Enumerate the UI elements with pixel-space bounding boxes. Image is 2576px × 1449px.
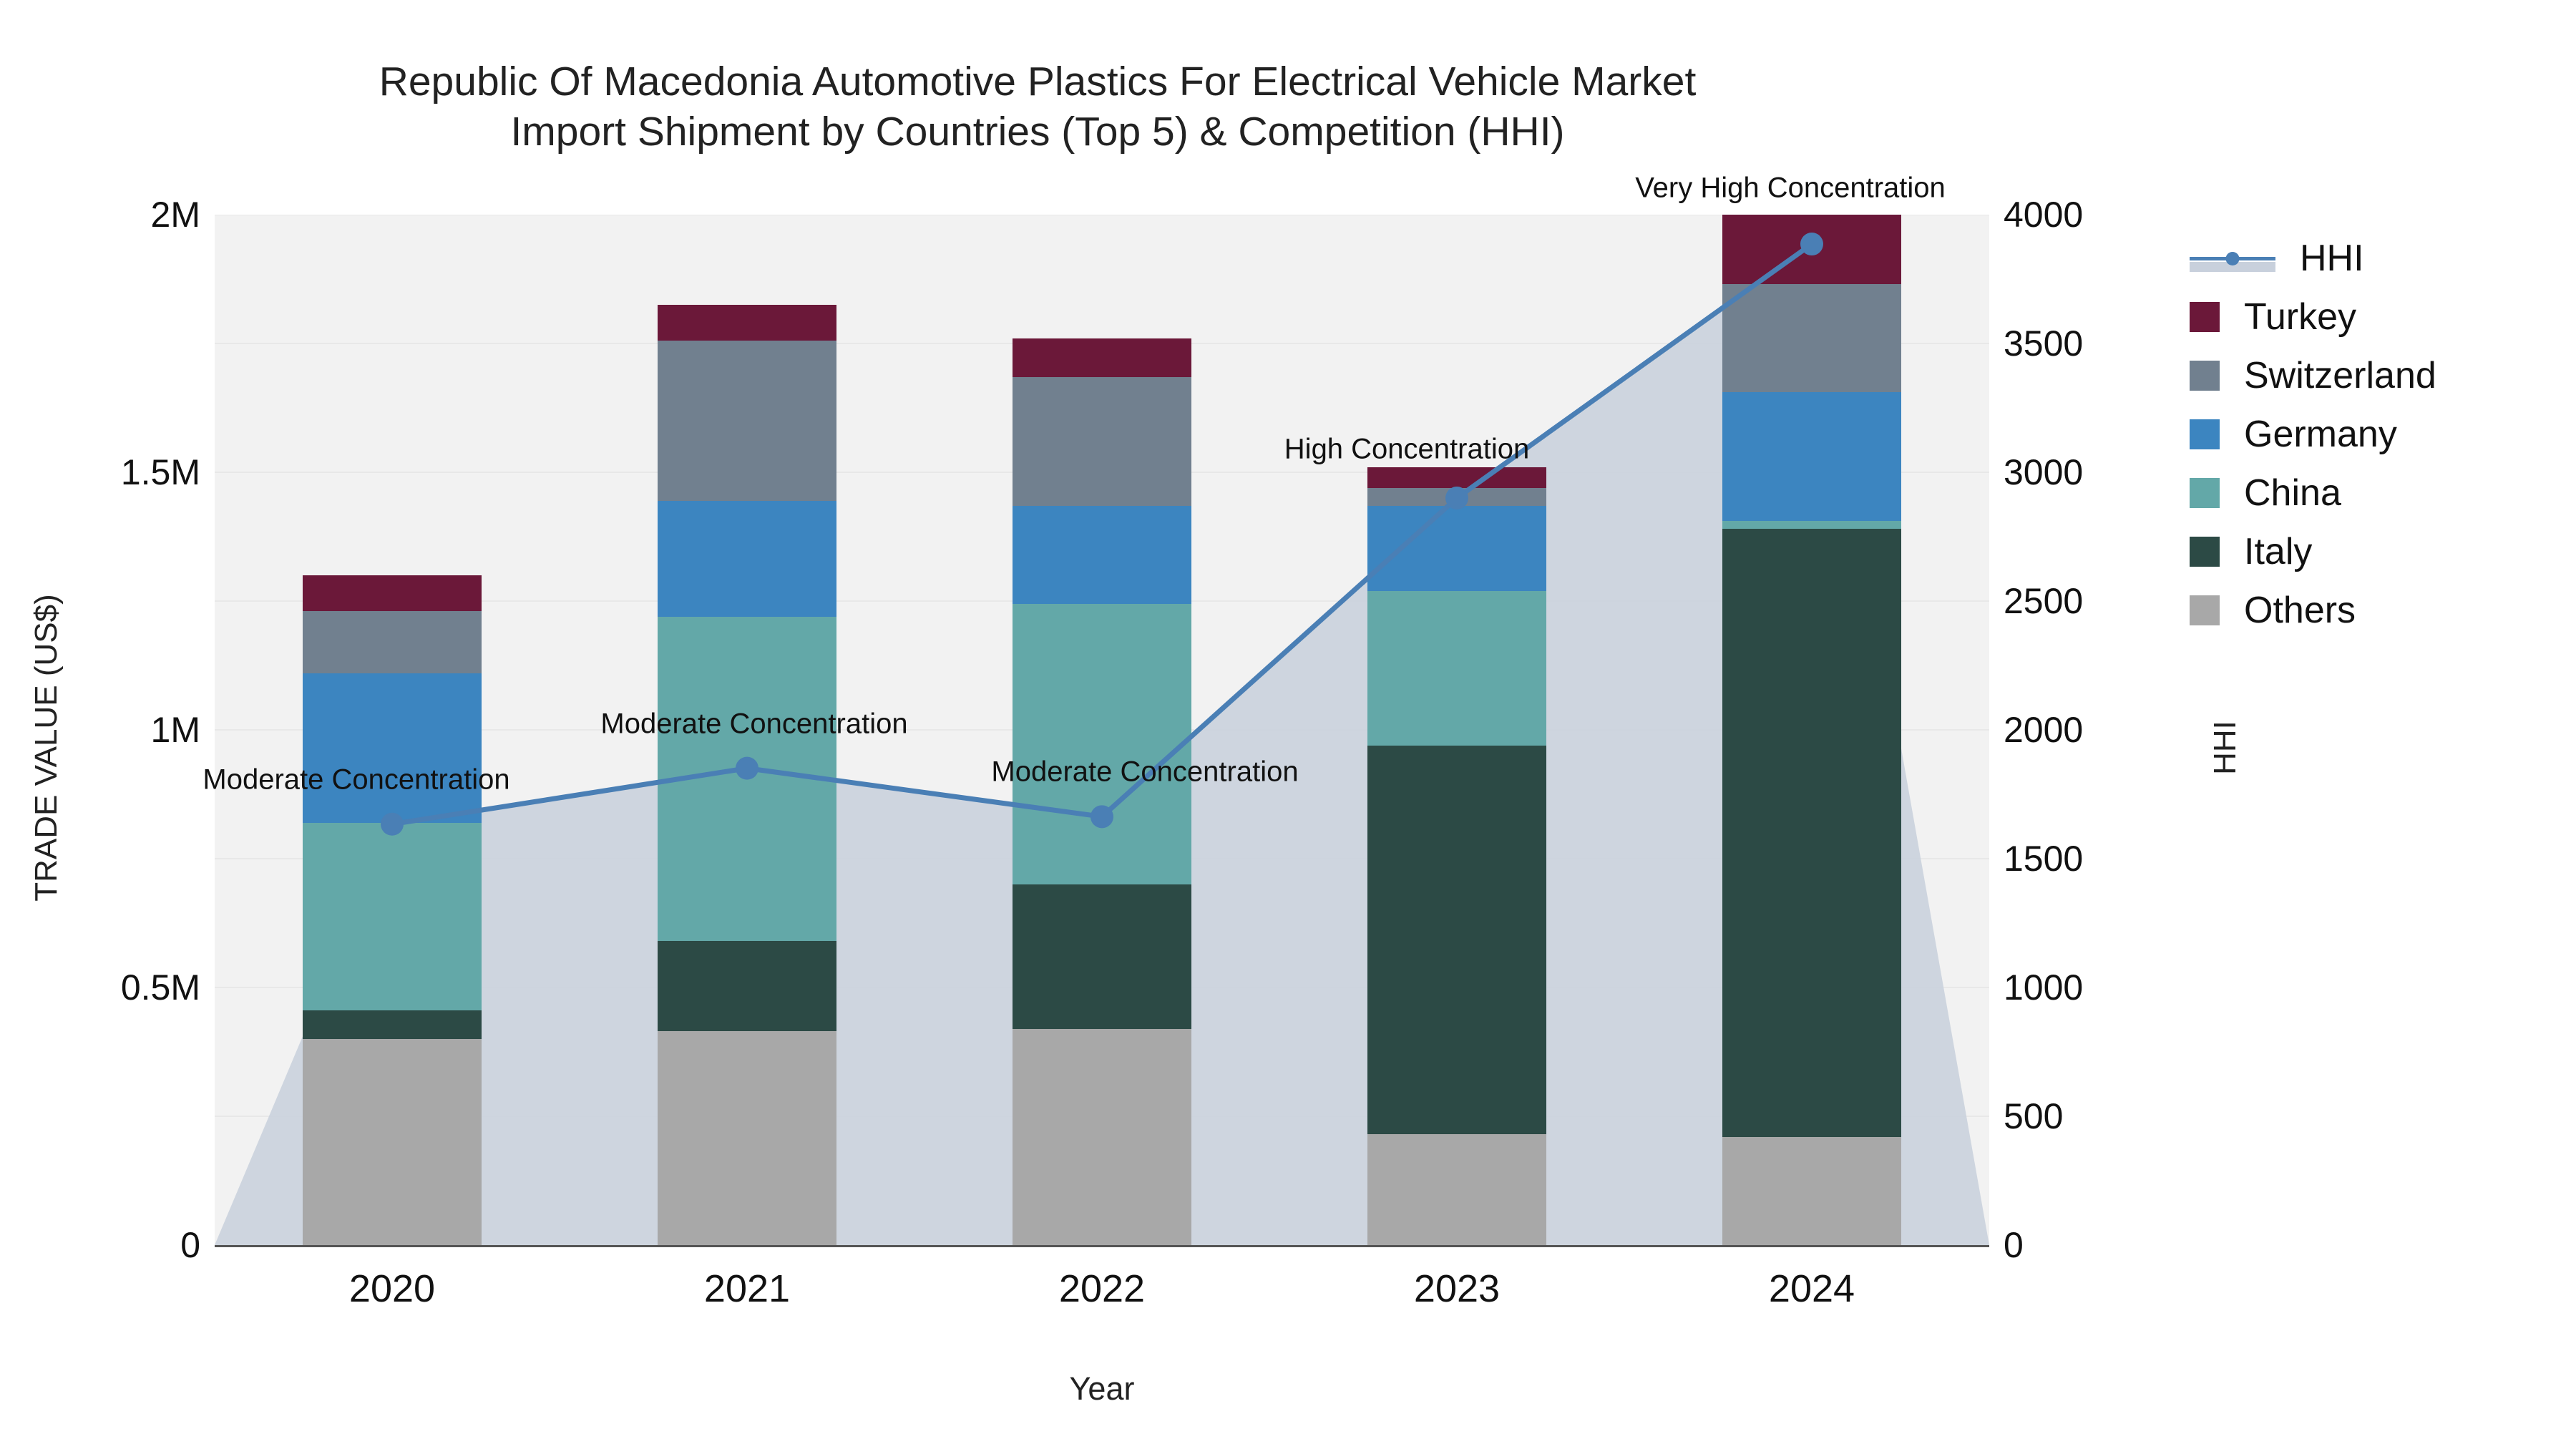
y-axis-right-tick-label: 500 [2004, 1096, 2063, 1137]
chart-title-line-1: Republic Of Macedonia Automotive Plastic… [0, 57, 2075, 107]
legend-item-label: China [2244, 472, 2341, 514]
x-axis-tick-label: 2022 [959, 1267, 1245, 1311]
y-axis-left-tick-label: 2M [7, 194, 200, 235]
concentration-annotation: Moderate Concentration [203, 763, 509, 796]
legend-item-label: Switzerland [2244, 354, 2436, 397]
y-axis-left-title: TRADE VALUE (US$) [29, 476, 64, 1020]
x-axis-tick-label: 2024 [1669, 1267, 1955, 1311]
y-axis-right-tick-label: 0 [2004, 1224, 2024, 1266]
concentration-annotation: Moderate Concentration [991, 756, 1298, 789]
y-axis-right-title: HHI [2207, 619, 2243, 877]
concentration-annotation: Moderate Concentration [600, 708, 907, 740]
y-axis-left-tick-label: 0 [7, 1224, 200, 1266]
legend-swatch-icon [2190, 302, 2220, 332]
y-axis-right-tick-label: 1000 [2004, 967, 2083, 1008]
legend-item-italy[interactable]: Italy [2190, 522, 2576, 581]
y-axis-right-tick-label: 3500 [2004, 323, 2083, 364]
y-axis-right-tick-label: 2000 [2004, 709, 2083, 751]
x-axis-line [215, 1245, 1989, 1247]
legend: HHITurkeySwitzerlandGermanyChinaItalyOth… [2190, 229, 2576, 640]
legend-item-label: Germany [2244, 413, 2397, 456]
x-axis-tick-label: 2020 [249, 1267, 535, 1311]
concentration-annotation: Very High Concentration [1635, 172, 1946, 205]
legend-item-label: Turkey [2244, 296, 2356, 338]
legend-item-others[interactable]: Others [2190, 581, 2576, 640]
y-axis-right-tick-label: 3000 [2004, 452, 2083, 493]
legend-swatch-icon [2190, 595, 2220, 625]
plot-area [215, 215, 1989, 1245]
x-axis-tick-label: 2021 [604, 1267, 890, 1311]
x-axis-title: Year [215, 1370, 1989, 1407]
legend-item-china[interactable]: China [2190, 464, 2576, 522]
chart-title: Republic Of Macedonia Automotive Plastic… [0, 57, 2075, 157]
legend-item-turkey[interactable]: Turkey [2190, 288, 2576, 346]
legend-item-label: Others [2244, 589, 2356, 632]
chart-root: Republic Of Macedonia Automotive Plastic… [0, 0, 2576, 1449]
legend-item-switzerland[interactable]: Switzerland [2190, 346, 2576, 405]
y-axis-right-tick-label: 1500 [2004, 838, 2083, 879]
legend-swatch-icon [2190, 419, 2220, 449]
legend-swatch-icon [2190, 537, 2220, 567]
x-axis-tick-label: 2023 [1314, 1267, 1600, 1311]
legend-line-icon [2190, 243, 2275, 273]
legend-item-label: HHI [2300, 237, 2364, 280]
legend-swatch-icon [2190, 361, 2220, 391]
legend-item-label: Italy [2244, 530, 2312, 573]
legend-item-hhi[interactable]: HHI [2190, 229, 2576, 288]
chart-title-line-2: Import Shipment by Countries (Top 5) & C… [0, 107, 2075, 157]
legend-item-germany[interactable]: Germany [2190, 405, 2576, 464]
legend-swatch-icon [2190, 478, 2220, 508]
plot-clip [215, 215, 1989, 1245]
concentration-annotation: High Concentration [1284, 434, 1529, 466]
y-axis-right-tick-label: 2500 [2004, 580, 2083, 622]
y-axis-right-tick-label: 4000 [2004, 194, 2083, 235]
